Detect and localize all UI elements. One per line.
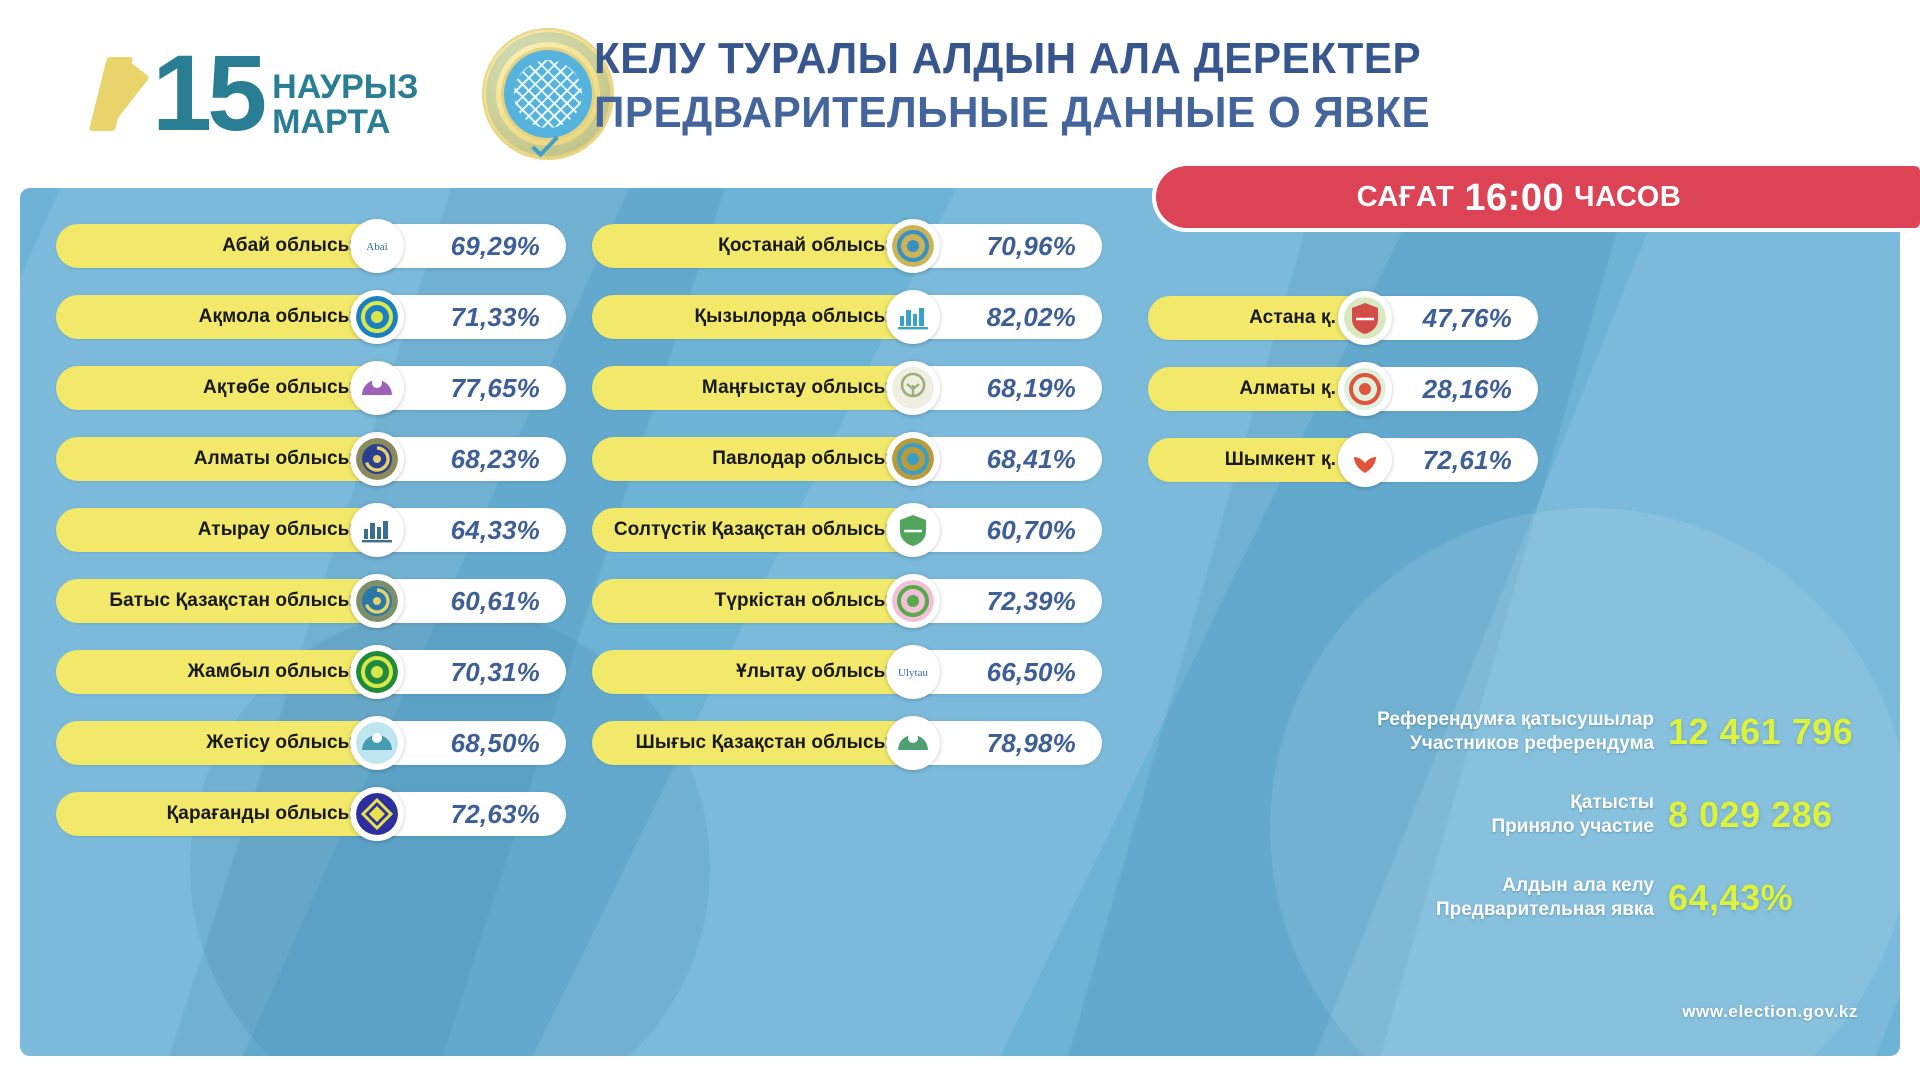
region-name-label: Батыс Қазақстан облысы (109, 590, 354, 612)
region-percent-value: 78,98% (987, 728, 1076, 759)
kostanay-region-emblem (886, 219, 940, 273)
region-row[interactable]: Алматы облысы 68,23% (56, 433, 596, 485)
title-kk: КЕЛУ ТУРАЛЫ АЛДЫН АЛА ДЕРЕКТЕР (594, 32, 1765, 86)
footer-url[interactable]: www.election.gov.kz (1682, 1002, 1858, 1022)
region-percent-value: 68,41% (987, 444, 1076, 475)
region-name-pill[interactable]: Ұлытау облысы (592, 650, 932, 694)
aqtobe-region-emblem (350, 361, 404, 415)
region-name-label: Атырау облысы (198, 519, 354, 541)
zhetisu-region-emblem (350, 716, 404, 770)
region-row[interactable]: Ақмола облысы 71,33% (56, 291, 596, 343)
region-percent-value: 68,50% (451, 728, 540, 759)
region-name-pill[interactable]: Жамбыл облысы (56, 650, 396, 694)
svg-text:Abai: Abai (366, 241, 387, 253)
region-name-pill[interactable]: Батыс Қазақстан облысы (56, 579, 396, 623)
seal-lattice-pattern (514, 60, 582, 128)
astana-city-emblem (1338, 291, 1392, 345)
almaty-city-emblem (1338, 362, 1392, 416)
logo-month-kk: НАУРЫЗ (272, 70, 418, 105)
region-row[interactable]: Шымкент қ. 72,61% (1148, 434, 1568, 486)
region-name-pill[interactable]: Солтүстік Қазақстан облысы (592, 508, 932, 552)
region-row[interactable]: Қарағанды облысы 72,63% (56, 788, 596, 840)
summary-stat-value: 8 029 286 (1668, 794, 1900, 836)
region-percent-value: 71,33% (451, 302, 540, 333)
summary-stat-label-kk: Референдумға қатысушылар (1377, 708, 1654, 732)
region-percent-value: 72,63% (451, 799, 540, 830)
region-percent-value: 77,65% (451, 373, 540, 404)
region-name-pill[interactable]: Жетісу облысы (56, 721, 396, 765)
pavlodar-region-emblem (886, 432, 940, 486)
summary-stat-label-ru: Участников референдума (1377, 732, 1654, 756)
region-name-pill[interactable]: Ақмола облысы (56, 295, 396, 339)
region-name-label: Алматы қ. (1239, 378, 1336, 400)
region-name-pill[interactable]: Алматы облысы (56, 437, 396, 481)
summary-stat-labels: Қатысты Приняло участие (1492, 791, 1669, 838)
region-name-label: Шығыс Қазақстан облысы (636, 732, 890, 754)
region-percent-value: 60,70% (987, 515, 1076, 546)
region-row[interactable]: Батыс Қазақстан облысы 60,61% (56, 575, 596, 627)
region-name-pill[interactable]: Ақтөбе облысы (56, 366, 396, 410)
time-banner-suffix: ЧАСОВ (1574, 181, 1681, 214)
kyzylorda-region-emblem (886, 290, 940, 344)
summary-stat-label-kk: Қатысты (1492, 791, 1655, 815)
region-name-label: Қарағанды облысы (167, 803, 354, 825)
region-row[interactable]: Жамбыл облысы 70,31% (56, 646, 596, 698)
time-banner-time: 16:00 (1454, 177, 1574, 220)
region-row[interactable]: Алматы қ. 28,16% (1148, 363, 1568, 415)
summary-stat-label-ru: Приняло участие (1492, 815, 1655, 839)
region-name-label: Солтүстік Қазақстан облысы (614, 519, 890, 541)
summary-stat-labels: Референдумға қатысушылар Участников рефе… (1377, 708, 1668, 755)
region-name-label: Қостанай облысы (718, 235, 890, 257)
region-name-pill[interactable]: Маңғыстау облысы (592, 366, 932, 410)
east-kazakhstan-region-emblem (886, 716, 940, 770)
region-row[interactable]: Ұлытау облысы Ulytau 66,50% (592, 646, 1132, 698)
region-name-pill[interactable]: Павлодар облысы (592, 437, 932, 481)
region-name-label: Жетісу облысы (206, 732, 354, 754)
region-name-pill[interactable]: Атырау облысы (56, 508, 396, 552)
region-name-label: Түркістан облысы (715, 590, 890, 612)
region-row[interactable]: Түркістан облысы 72,39% (592, 575, 1132, 627)
shymkent-city-emblem (1338, 433, 1392, 487)
region-name-label: Қызылорда облысы (694, 306, 890, 328)
zhambyl-region-emblem (350, 645, 404, 699)
region-percent-value: 82,02% (987, 302, 1076, 333)
region-percent-value: 60,61% (451, 586, 540, 617)
west-kazakhstan-region-emblem (350, 574, 404, 628)
region-row[interactable]: Қостанай облысы 70,96% (592, 220, 1132, 272)
region-percent-value: 70,96% (987, 231, 1076, 262)
mangystau-region-emblem (886, 361, 940, 415)
logo-month-ru: МАРТА (272, 105, 418, 140)
aqmola-region-emblem (350, 290, 404, 344)
region-percent-value: 28,16% (1423, 374, 1512, 405)
region-row[interactable]: Қызылорда облысы 82,02% (592, 291, 1132, 343)
region-name-label: Абай облысы (222, 235, 354, 257)
region-percent-value: 47,76% (1423, 303, 1512, 334)
summary-stat-value: 64,43% (1668, 877, 1900, 919)
region-name-pill[interactable]: Қостанай облысы (592, 224, 932, 268)
seal-inner-disc (504, 50, 592, 138)
ulytau-region-emblem: Ulytau (886, 645, 940, 699)
region-row[interactable]: Шығыс Қазақстан облысы 78,98% (592, 717, 1132, 769)
region-name-label: Ақмола облысы (199, 306, 354, 328)
summary-stat-value: 12 461 796 (1668, 711, 1900, 753)
time-banner: САҒАТ 16:00 ЧАСОВ (1156, 166, 1920, 228)
region-name-label: Алматы облысы (194, 448, 354, 470)
region-name-label: Шымкент қ. (1225, 449, 1336, 471)
checkmark-icon (96, 43, 174, 143)
summary-stat-label-kk: Алдын ала келу (1436, 874, 1654, 898)
infographic-root: 15 НАУРЫЗ МАРТА КЕЛУ ТУРАЛЫ АЛДЫН АЛА ДЕ… (0, 0, 1920, 1076)
region-row[interactable]: Астана қ. 47,76% (1148, 292, 1568, 344)
north-kazakhstan-region-emblem (886, 503, 940, 557)
city-column-3: Астана қ. 47,76% Алматы қ. 28,16% (1148, 292, 1568, 505)
region-percent-value: 68,19% (987, 373, 1076, 404)
region-name-label: Ақтөбе облысы (203, 377, 354, 399)
region-row[interactable]: Абай облысы Abai 69,29% (56, 220, 596, 272)
region-percent-value: 64,33% (451, 515, 540, 546)
summary-stat-labels: Алдын ала келу Предварительная явка (1436, 874, 1668, 921)
karaganda-region-emblem (350, 787, 404, 841)
summary-stat-label-ru: Предварительная явка (1436, 898, 1654, 922)
page-title: КЕЛУ ТУРАЛЫ АЛДЫН АЛА ДЕРЕКТЕР ПРЕДВАРИТ… (594, 32, 1814, 139)
summary-stat: Референдумға қатысушылар Участников рефе… (1120, 708, 1900, 755)
region-column-1: Абай облысы Abai 69,29% Ақмола облысы 71… (56, 220, 596, 859)
march-15-logo: 15 НАУРЫЗ МАРТА (96, 28, 426, 158)
turkistan-region-emblem (886, 574, 940, 628)
region-name-pill[interactable]: Қарағанды облысы (56, 792, 396, 836)
time-banner-prefix: САҒАТ (1357, 181, 1455, 214)
region-percent-value: 72,39% (987, 586, 1076, 617)
region-row[interactable]: Солтүстік Қазақстан облысы 60,70% (592, 504, 1132, 556)
region-row[interactable]: Атырау облысы 64,33% (56, 504, 596, 556)
region-name-pill[interactable]: Шығыс Қазақстан облысы (592, 721, 932, 765)
svg-text:Ulytau: Ulytau (898, 667, 928, 679)
region-row[interactable]: Жетісу облысы 68,50% (56, 717, 596, 769)
title-ru: ПРЕДВАРИТЕЛЬНЫЕ ДАННЫЕ О ЯВКЕ (594, 86, 1765, 140)
region-name-pill[interactable]: Абай облысы (56, 224, 396, 268)
region-percent-value: 72,61% (1423, 445, 1512, 476)
region-percent-value: 69,29% (451, 231, 540, 262)
region-name-label: Маңғыстау облысы (702, 377, 890, 399)
region-percent-value: 70,31% (451, 657, 540, 688)
region-row[interactable]: Ақтөбе облысы 77,65% (56, 362, 596, 414)
summary-stat: Қатысты Приняло участие 8 029 286 (1120, 791, 1900, 838)
summary-stat: Алдын ала келу Предварительная явка 64,4… (1120, 874, 1900, 921)
content-panel: Абай облысы Abai 69,29% Ақмола облысы 71… (20, 188, 1900, 1056)
atyrau-region-emblem (350, 503, 404, 557)
logo-month-words: НАУРЫЗ МАРТА (272, 46, 418, 139)
region-name-label: Астана қ. (1249, 307, 1336, 329)
header: 15 НАУРЫЗ МАРТА КЕЛУ ТУРАЛЫ АЛДЫН АЛА ДЕ… (0, 0, 1920, 188)
region-name-label: Жамбыл облысы (188, 661, 354, 683)
region-row[interactable]: Павлодар облысы 68,41% (592, 433, 1132, 485)
almaty-region-emblem (350, 432, 404, 486)
abai-region-emblem: Abai (350, 219, 404, 273)
summary-stats: Референдумға қатысушылар Участников рефе… (1120, 708, 1900, 957)
region-percent-value: 66,50% (987, 657, 1076, 688)
region-name-label: Павлодар облысы (712, 448, 890, 470)
region-name-pill[interactable]: Қызылорда облысы (592, 295, 932, 339)
region-column-2: Қостанай облысы 70,96% Қызылорда облысы (592, 220, 1132, 788)
region-percent-value: 68,23% (451, 444, 540, 475)
region-name-label: Ұлытау облысы (736, 661, 890, 683)
region-row[interactable]: Маңғыстау облысы 68,19% (592, 362, 1132, 414)
region-name-pill[interactable]: Түркістан облысы (592, 579, 932, 623)
